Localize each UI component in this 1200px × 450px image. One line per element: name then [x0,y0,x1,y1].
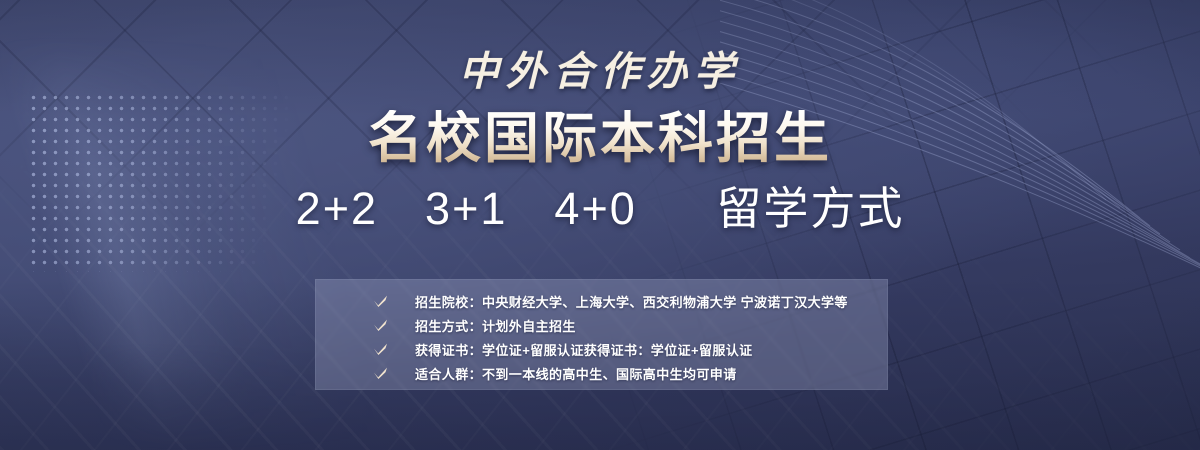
check-icon [373,337,415,355]
list-item-label: 获得证书：学位证+留服认证获得证书：学位证+留服认证 [415,339,753,362]
highlights-panel: 招生院校：中央财经大学、上海大学、西交利物浦大学 宁波诺丁汉大学等 招生方式：计… [315,279,888,390]
list-item-label: 招生院校：中央财经大学、上海大学、西交利物浦大学 宁波诺丁汉大学等 [415,291,848,314]
banner-headline: 名校国际本科招生 [368,110,832,168]
program-mode-4plus0: 4+0 [554,183,636,234]
list-item: 招生院校：中央财经大学、上海大学、西交利物浦大学 宁波诺丁汉大学等 [373,289,878,312]
promo-banner: 中外合作办学 名校国际本科招生 2+2 3+1 4+0 留学方式 招生院校：中央… [0,0,1200,450]
check-icon [373,289,415,307]
program-mode-2plus2: 2+2 [296,183,378,234]
check-icon [373,313,415,331]
list-item: 招生方式：计划外自主招生 [373,313,878,336]
list-item-label: 适合人群：不到一本线的高中生、国际高中生均可申请 [415,363,737,386]
banner-subline: 2+2 3+1 4+0 留学方式 [296,184,905,234]
study-abroad-label: 留学方式 [716,183,904,234]
program-mode-3plus1: 3+1 [425,183,507,234]
banner-kicker: 中外合作办学 [459,52,741,92]
check-icon [373,361,415,379]
list-item-label: 招生方式：计划外自主招生 [415,315,576,338]
list-item: 适合人群：不到一本线的高中生、国际高中生均可申请 [373,361,878,384]
highlights-list: 招生院校：中央财经大学、上海大学、西交利物浦大学 宁波诺丁汉大学等 招生方式：计… [373,289,878,385]
list-item: 获得证书：学位证+留服认证获得证书：学位证+留服认证 [373,337,878,360]
